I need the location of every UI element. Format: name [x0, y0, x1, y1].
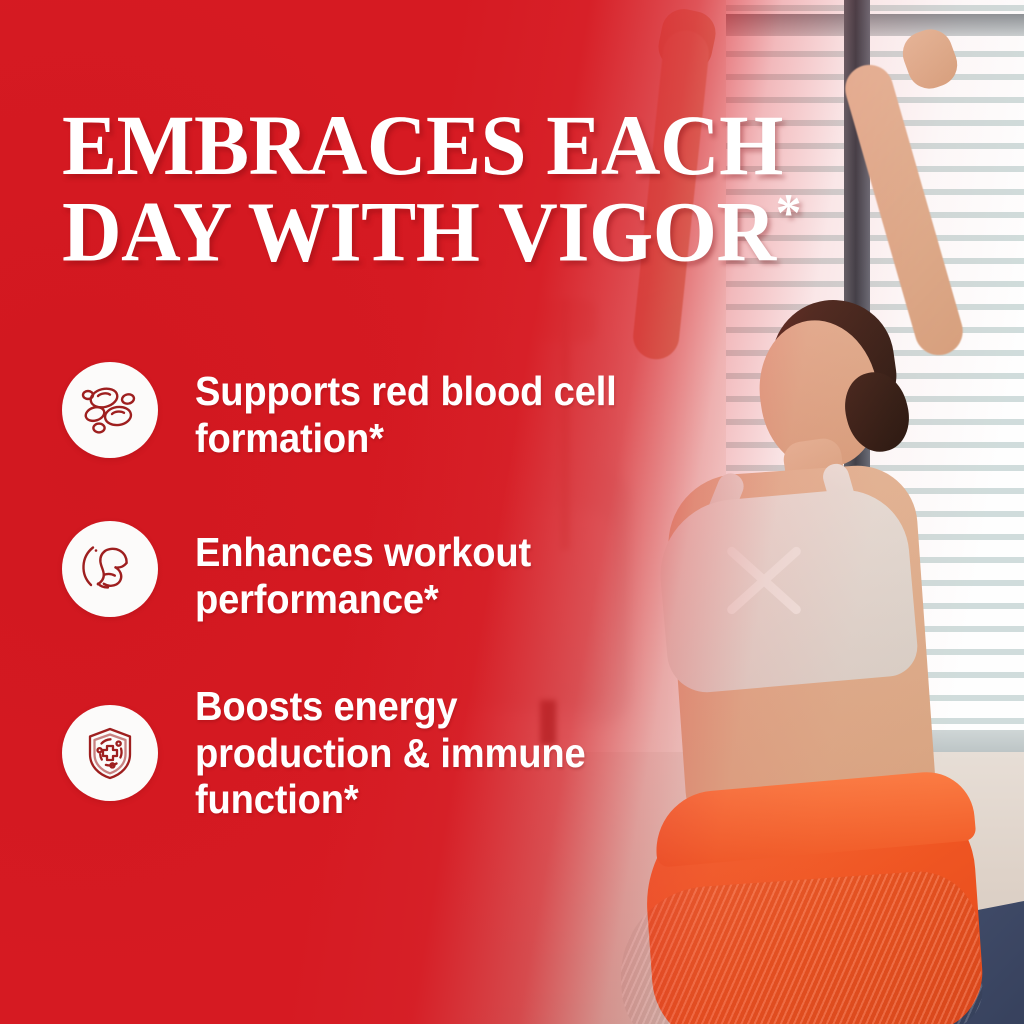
headline-line-2-text: DAY WITH VIGOR — [62, 184, 776, 280]
benefit-icon-badge — [62, 362, 158, 458]
blood-cells-icon — [79, 379, 141, 441]
headline-asterisk: * — [776, 183, 801, 243]
benefit-list: Supports red blood cell formation* — [62, 362, 662, 823]
flexed-bicep-icon — [79, 538, 141, 600]
benefit-icon-badge — [62, 705, 158, 801]
benefit-item: Supports red blood cell formation* — [62, 362, 662, 461]
headline-line-1: EMBRACES EACH — [62, 104, 926, 187]
benefit-label: Boosts energy production & immune functi… — [195, 683, 629, 823]
product-benefit-poster: EMBRACES EACH DAY WITH VIGOR* — [0, 0, 1024, 1024]
benefit-item: Enhances workout performance* — [62, 521, 662, 622]
benefit-label: Enhances workout performance* — [195, 521, 629, 622]
shield-medical-cross-icon — [80, 723, 140, 783]
headline-line-2: DAY WITH VIGOR* — [62, 187, 926, 274]
page-title: EMBRACES EACH DAY WITH VIGOR* — [62, 104, 926, 274]
benefit-icon-badge — [62, 521, 158, 617]
benefit-item: Boosts energy production & immune functi… — [62, 683, 662, 823]
benefit-label: Supports red blood cell formation* — [195, 362, 629, 461]
